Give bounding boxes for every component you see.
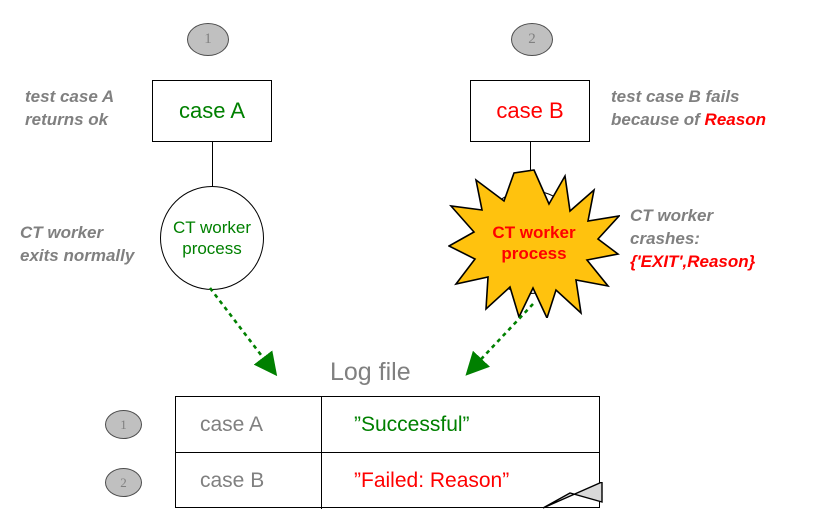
log-column-divider <box>321 396 322 453</box>
log-row-2-case-name: case B <box>176 469 321 493</box>
note-crashes-exit-tuple: {'EXIT',Reason} <box>630 251 755 274</box>
note-case-b-reason: Reason <box>705 110 766 129</box>
log-row-badge-2: 2 <box>105 468 142 497</box>
note-exits-line1: CT worker <box>20 222 134 245</box>
log-row-1-result: ”Successful” <box>321 413 599 437</box>
case-a-label: case A <box>179 98 245 124</box>
log-row-badge-1: 1 <box>105 410 142 439</box>
note-case-a-returns-ok: test case A returns ok <box>25 86 114 132</box>
log-column-divider <box>321 452 322 509</box>
log-row-1-case-name: case A <box>176 413 321 437</box>
log-file-table[interactable]: case A ”Successful” case B ”Failed: Reas… <box>175 396 600 508</box>
case-b-label: case B <box>496 98 563 124</box>
note-case-b-fails: test case B fails because of Reason <box>611 86 766 132</box>
note-case-b-line2-prefix: because of <box>611 110 705 129</box>
ct-worker-process-explosion[interactable]: CT worker process <box>448 168 620 318</box>
ct-worker-process-line2: process <box>182 238 242 259</box>
ct-worker-process-circle[interactable]: CT worker process <box>160 186 264 290</box>
ct-worker-process-line1: CT worker <box>173 217 251 238</box>
note-case-b-line2: because of Reason <box>611 109 766 132</box>
step-badge-2: 2 <box>511 23 553 56</box>
arrow-success-to-log <box>200 280 310 390</box>
page-fold-corner-icon <box>540 482 606 512</box>
note-crashes-line2: crashes: <box>630 228 755 251</box>
note-case-a-line1: test case A <box>25 86 114 109</box>
note-ct-worker-exits-normally: CT worker exits normally <box>20 222 134 268</box>
case-a-box[interactable]: case A <box>152 80 272 142</box>
case-b-box[interactable]: case B <box>470 80 590 142</box>
step-badge-1: 1 <box>187 23 229 56</box>
table-row[interactable]: case A ”Successful” <box>176 397 599 452</box>
explosion-star-icon <box>448 168 620 318</box>
note-crashes-line1: CT worker <box>630 205 755 228</box>
note-case-a-line2: returns ok <box>25 109 114 132</box>
note-case-b-line1: test case B fails <box>611 86 766 109</box>
table-row[interactable]: case B ”Failed: Reason” <box>176 452 599 508</box>
note-exits-line2: exits normally <box>20 245 134 268</box>
diagram-canvas: 1 test case A returns ok case A CT worke… <box>0 0 815 528</box>
arrow-failure-to-log <box>455 298 565 390</box>
connector-case-a-to-worker <box>212 142 213 186</box>
log-file-title: Log file <box>330 358 411 387</box>
note-ct-worker-crashes: CT worker crashes: {'EXIT',Reason} <box>630 205 755 274</box>
